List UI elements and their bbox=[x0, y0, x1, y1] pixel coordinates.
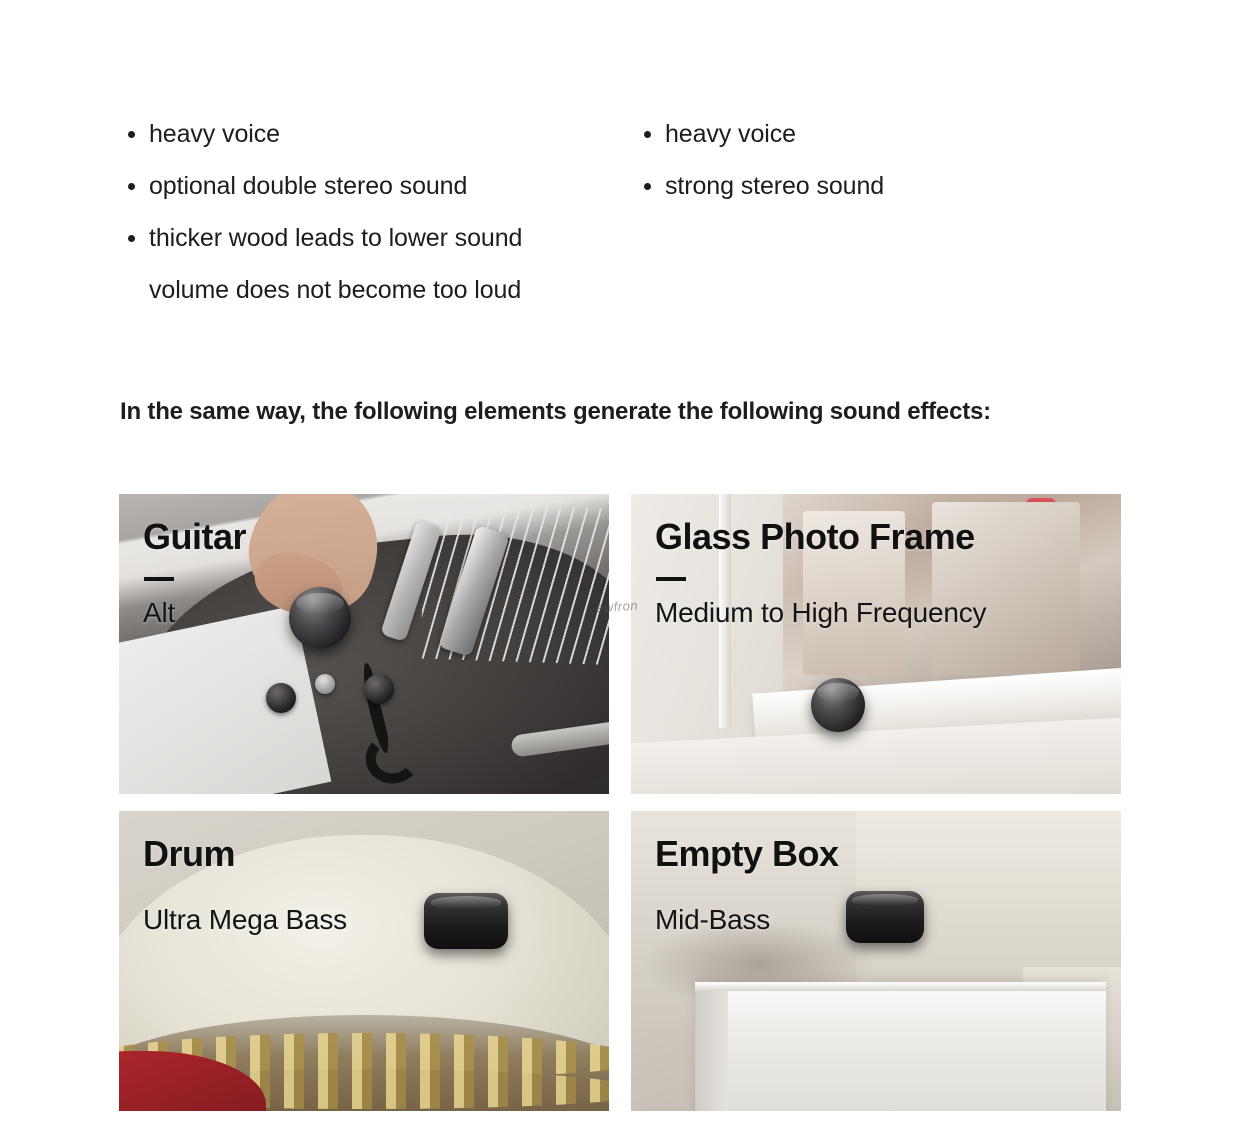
bullet-column-right: heavy voice strong stereo sound bbox=[636, 108, 1116, 212]
card-title: Guitar bbox=[143, 516, 246, 558]
sound-effect-card-grid: Guitar Alt Glass Photo Frame bbox=[119, 494, 1121, 1128]
list-item-text: optional double stereo sound bbox=[149, 172, 467, 200]
document-page: heavy voice optional double stereo sound… bbox=[0, 0, 1245, 1137]
speaker-puck-icon bbox=[811, 678, 865, 732]
list-item: thicker wood leads to lower sound volume… bbox=[120, 212, 620, 316]
title-underline bbox=[144, 577, 174, 581]
speaker-puck-icon bbox=[289, 587, 351, 649]
bottle-shape bbox=[1026, 498, 1056, 550]
card-title: Glass Photo Frame bbox=[655, 516, 975, 558]
list-item: heavy voice bbox=[636, 108, 1116, 160]
card-subtitle: Mid-Bass bbox=[655, 904, 770, 936]
card-empty-box: Empty Box Mid-Bass bbox=[631, 811, 1121, 1111]
guitar-switch bbox=[315, 674, 335, 694]
card-row-bottom: Drum Ultra Mega Bass Empty Box Mid-Bass bbox=[119, 811, 1121, 1111]
guitar-knob bbox=[266, 683, 296, 713]
card-title: Drum bbox=[143, 833, 235, 875]
list-item-continuation: volume does not become too loud bbox=[149, 264, 620, 316]
list-item: optional double stereo sound bbox=[120, 160, 620, 212]
list-item-text: strong stereo sound bbox=[665, 172, 884, 200]
card-guitar: Guitar Alt bbox=[119, 494, 609, 794]
card-glass-photo-frame: Glass Photo Frame Medium to High Frequen… bbox=[631, 494, 1121, 794]
bullet-column-left: heavy voice optional double stereo sound… bbox=[120, 108, 620, 316]
card-drum: Drum Ultra Mega Bass bbox=[119, 811, 609, 1111]
watermark: ewfron bbox=[596, 598, 639, 616]
title-underline bbox=[656, 577, 686, 581]
list-item-text: thicker wood leads to lower sound bbox=[149, 224, 522, 252]
guitar-knob bbox=[364, 674, 394, 704]
card-subtitle: Medium to High Frequency bbox=[655, 597, 986, 629]
card-subtitle: Alt bbox=[143, 597, 175, 629]
white-box-shape bbox=[695, 982, 1107, 1111]
card-title: Empty Box bbox=[655, 833, 839, 875]
card-row-top: Guitar Alt Glass Photo Frame bbox=[119, 494, 1121, 794]
bullet-list-right: heavy voice strong stereo sound bbox=[636, 108, 1116, 212]
list-item: heavy voice bbox=[120, 108, 620, 160]
list-item-text: heavy voice bbox=[149, 120, 280, 148]
list-item: strong stereo sound bbox=[636, 160, 1116, 212]
speaker-puck-icon bbox=[424, 893, 508, 949]
card-subtitle: Ultra Mega Bass bbox=[143, 904, 347, 936]
list-item-text: heavy voice bbox=[665, 120, 796, 148]
speaker-puck-icon bbox=[846, 891, 924, 943]
bullet-list-left: heavy voice optional double stereo sound… bbox=[120, 108, 620, 316]
intro-sentence: In the same way, the following elements … bbox=[120, 398, 991, 426]
